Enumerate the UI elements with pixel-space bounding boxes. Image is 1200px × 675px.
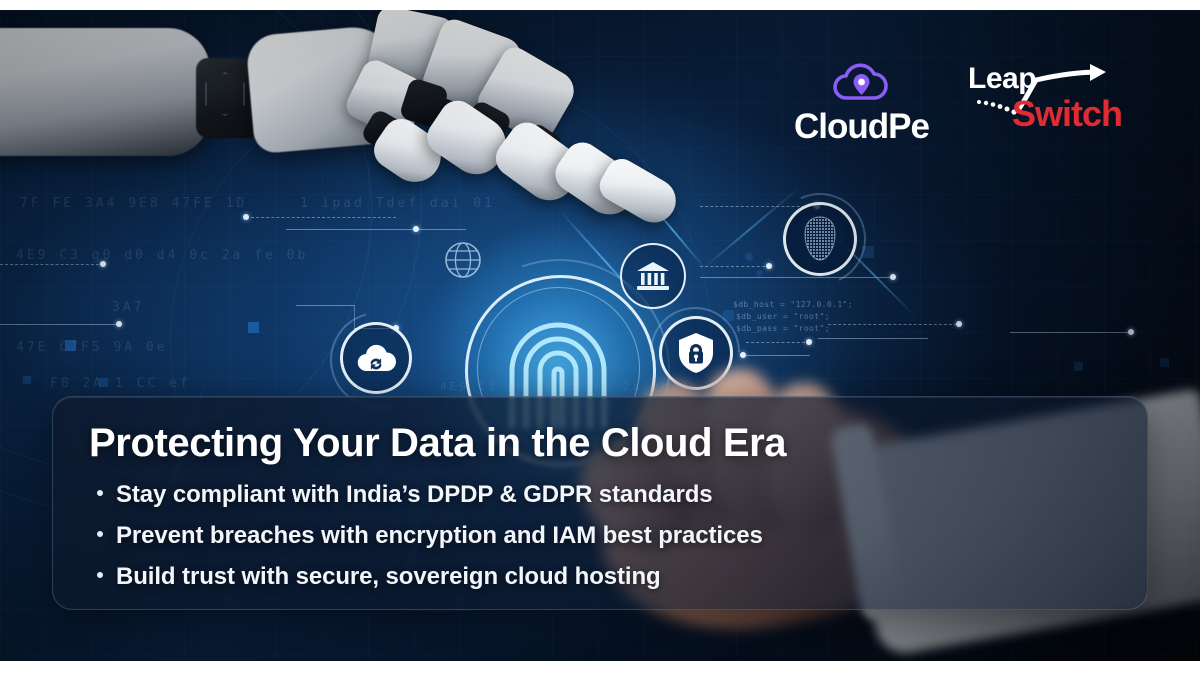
- bullet-dot: [97, 572, 103, 578]
- page-title: Protecting Your Data in the Cloud Era: [89, 421, 786, 466]
- cloudpe-wordmark: CloudPe: [794, 109, 924, 144]
- cloudpe-logo[interactable]: CloudPe: [794, 62, 924, 144]
- banner-image: 1 ipad Tdef dai 01 7F FE 3A4 9E8 47FE 1D…: [0, 0, 1200, 675]
- list-item: Stay compliant with India’s DPDP & GDPR …: [97, 481, 763, 509]
- bullet-text: Stay compliant with India’s DPDP & GDPR …: [116, 481, 713, 509]
- top-letterbox: [0, 0, 1200, 10]
- leapswitch-logo[interactable]: Leap Switch: [966, 62, 1144, 136]
- logo-row: CloudPe Leap Switch: [794, 62, 1200, 144]
- leapswitch-leap-text: Leap: [968, 62, 1036, 96]
- info-panel: Protecting Your Data in the Cloud Era St…: [52, 396, 1148, 610]
- bullet-dot: [97, 531, 103, 537]
- bullet-text: Prevent breaches with encryption and IAM…: [116, 522, 763, 550]
- list-item: Build trust with secure, sovereign cloud…: [97, 563, 763, 591]
- bullet-list: Stay compliant with India’s DPDP & GDPR …: [97, 481, 763, 604]
- bullet-dot: [97, 490, 103, 496]
- leapswitch-switch-text: Switch: [1012, 93, 1122, 135]
- bottom-letterbox: [0, 661, 1200, 675]
- list-item: Prevent breaches with encryption and IAM…: [97, 522, 763, 550]
- bullet-text: Build trust with secure, sovereign cloud…: [116, 563, 661, 591]
- cloud-pin-icon: [828, 62, 890, 102]
- background-photo: 1 ipad Tdef dai 01 7F FE 3A4 9E8 47FE 1D…: [0, 10, 1200, 661]
